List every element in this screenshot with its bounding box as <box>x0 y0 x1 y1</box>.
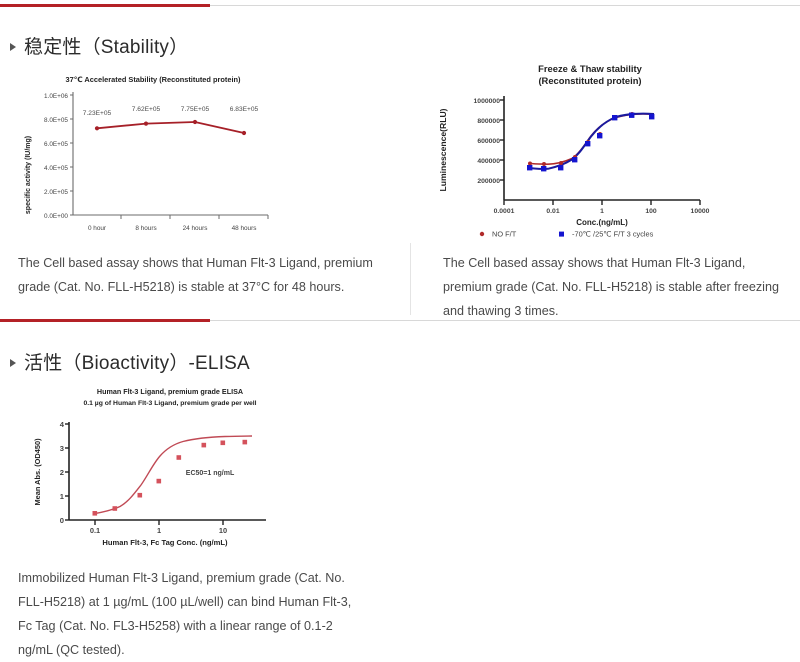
data-point <box>95 126 99 130</box>
chart-title-line1: Freeze & Thaw stability <box>538 63 642 74</box>
data-point <box>541 166 546 171</box>
x-tick: 0.01 <box>546 208 559 215</box>
y-tick: 0.0E+00 <box>44 213 68 220</box>
chart-y-ticks: 4 3 2 1 0 <box>60 420 65 525</box>
x-tick: 100 <box>645 208 657 215</box>
section-heading-bioactivity-label: 活性（Bioactivity）-ELISA <box>24 348 250 375</box>
data-label: 7.23E+05 <box>83 110 112 117</box>
chart-series-line <box>97 122 244 133</box>
chart-accelerated-stability-svg: 37℃ Accelerated Stability (Reconstituted… <box>18 70 288 240</box>
data-point <box>597 133 602 138</box>
chart-accelerated-stability: 37℃ Accelerated Stability (Reconstituted… <box>18 70 288 240</box>
y-tick: 200000 <box>477 178 500 185</box>
section-heading-stability: 稳定性（Stability） <box>8 32 188 59</box>
section-heading-stability-label: 稳定性（Stability） <box>24 32 188 59</box>
data-point <box>193 120 197 124</box>
chart-subtitle: 0.1 µg of Human Flt-3 Ligand, premium gr… <box>83 400 256 407</box>
section-heading-bioactivity: 活性（Bioactivity）-ELISA <box>8 348 250 375</box>
data-point <box>157 479 162 484</box>
chart-y-axis-label: Mean Abs. (OD450) <box>33 438 42 506</box>
x-tick: 1 <box>157 526 161 535</box>
data-point <box>629 113 634 118</box>
chart-y-ticks: 1000000 800000 600000 400000 200000 <box>474 98 501 185</box>
chart-data-points-ft <box>527 113 654 172</box>
chart-y-axis-label: Luminescence(RLU) <box>438 108 448 191</box>
y-tick: 600000 <box>477 138 500 145</box>
data-label: 7.75E+05 <box>181 106 210 113</box>
x-tick: 24 hours <box>183 225 208 232</box>
chart-x-axis-label: Human Flt-3, Fc Tag Conc. (ng/mL) <box>102 538 228 547</box>
y-tick: 1000000 <box>474 98 501 105</box>
data-point <box>559 161 563 165</box>
data-point <box>612 115 617 120</box>
y-tick: 400000 <box>477 158 500 165</box>
chart-x-ticks: 0 hour 8 hours 24 hours 48 hours <box>88 225 257 232</box>
legend-label-ft: -70℃ /25℃ F/T 3 cycles <box>572 230 654 239</box>
caption-freeze-thaw: The Cell based assay shows that Human Fl… <box>443 251 788 323</box>
chart-x-ticks: 0.1 1 10 <box>90 526 227 535</box>
x-tick: 0.1 <box>90 526 100 535</box>
y-tick: 3 <box>60 444 64 453</box>
data-point <box>585 141 590 146</box>
y-tick: 800000 <box>477 118 500 125</box>
chart-elisa-svg: Human Flt-3 Ligand, premium grade ELISA … <box>20 382 295 547</box>
x-tick: 48 hours <box>232 225 257 232</box>
section-divider-middle <box>0 318 800 324</box>
data-point <box>528 162 532 166</box>
chart-series-line-ft <box>530 114 654 169</box>
caption-stability: The Cell based assay shows that Human Fl… <box>18 251 380 299</box>
chart-title-line2: (Reconstituted protein) <box>538 75 641 86</box>
chart-data-points <box>93 440 248 516</box>
chart-elisa-binding: Human Flt-3 Ligand, premium grade ELISA … <box>20 382 295 547</box>
chart-title: 37℃ Accelerated Stability (Reconstituted… <box>65 75 241 84</box>
chart-annotation-ec50: EC50=1 ng/mL <box>186 470 235 477</box>
chart-x-ticks: 0.0001 0.01 1 100 10000 <box>494 208 710 215</box>
y-tick: 4.0E+05 <box>44 165 68 172</box>
chart-tick-marks <box>500 100 700 205</box>
x-tick: 0.0001 <box>494 208 515 215</box>
y-tick: 2 <box>60 468 64 477</box>
data-label: 6.83E+05 <box>230 106 259 113</box>
divider-red-accent <box>0 4 210 7</box>
chart-y-axis-label: specific activity (IU/mg) <box>25 136 32 214</box>
chart-series-line-no-ft <box>530 114 654 164</box>
y-tick: 1.0E+06 <box>44 93 68 100</box>
data-point <box>649 114 654 119</box>
data-point <box>572 157 577 162</box>
data-label: 7.62E+05 <box>132 106 161 113</box>
y-tick: 1 <box>60 492 65 501</box>
section-divider-top <box>0 3 800 9</box>
column-divider <box>410 243 411 315</box>
triangle-bullet-icon <box>8 42 18 52</box>
chart-y-ticks: 1.0E+06 8.0E+05 6.0E+05 4.0E+05 2.0E+05 … <box>44 93 68 220</box>
caption-elisa: Immobilized Human Flt-3 Ligand, premium … <box>18 566 368 662</box>
data-point <box>138 493 143 498</box>
x-tick: 10 <box>219 526 227 535</box>
data-point <box>527 165 532 170</box>
data-point <box>242 131 246 135</box>
product-datasheet-page: 稳定性（Stability） 37℃ Accelerated Stability… <box>0 0 800 645</box>
data-point <box>93 511 98 516</box>
y-tick: 2.0E+05 <box>44 189 68 196</box>
data-point <box>558 165 563 170</box>
chart-legend: NO F/T -70℃ /25℃ F/T 3 cycles <box>480 230 654 239</box>
x-tick: 8 hours <box>135 225 156 232</box>
legend-marker-ft <box>559 232 564 237</box>
y-tick: 4 <box>60 420 65 429</box>
chart-data-labels: 7.23E+05 7.62E+05 7.75E+05 6.83E+05 <box>83 106 259 117</box>
chart-freeze-thaw-stability: Freeze & Thaw stability (Reconstituted p… <box>432 58 722 238</box>
y-tick: 6.0E+05 <box>44 141 68 148</box>
x-tick: 0 hour <box>88 225 107 232</box>
data-point <box>113 506 118 511</box>
chart-data-points-no-ft <box>528 112 654 166</box>
legend-marker-no-ft <box>480 232 484 236</box>
divider-red-accent <box>0 319 210 322</box>
chart-freeze-thaw-svg: Freeze & Thaw stability (Reconstituted p… <box>432 58 722 238</box>
data-point <box>221 441 226 446</box>
data-point <box>177 455 182 460</box>
triangle-bullet-icon <box>8 358 18 368</box>
y-tick: 0 <box>60 516 64 525</box>
data-point <box>243 440 248 445</box>
legend-label-no-ft: NO F/T <box>492 230 517 239</box>
data-point <box>542 162 546 166</box>
chart-x-axis-label: Conc.(ng/mL) <box>576 218 628 227</box>
x-tick: 10000 <box>691 208 710 215</box>
data-point <box>144 122 148 126</box>
data-point <box>202 443 207 448</box>
x-tick: 1 <box>600 208 604 215</box>
y-tick: 8.0E+05 <box>44 117 68 124</box>
chart-title: Human Flt-3 Ligand, premium grade ELISA <box>97 387 243 396</box>
